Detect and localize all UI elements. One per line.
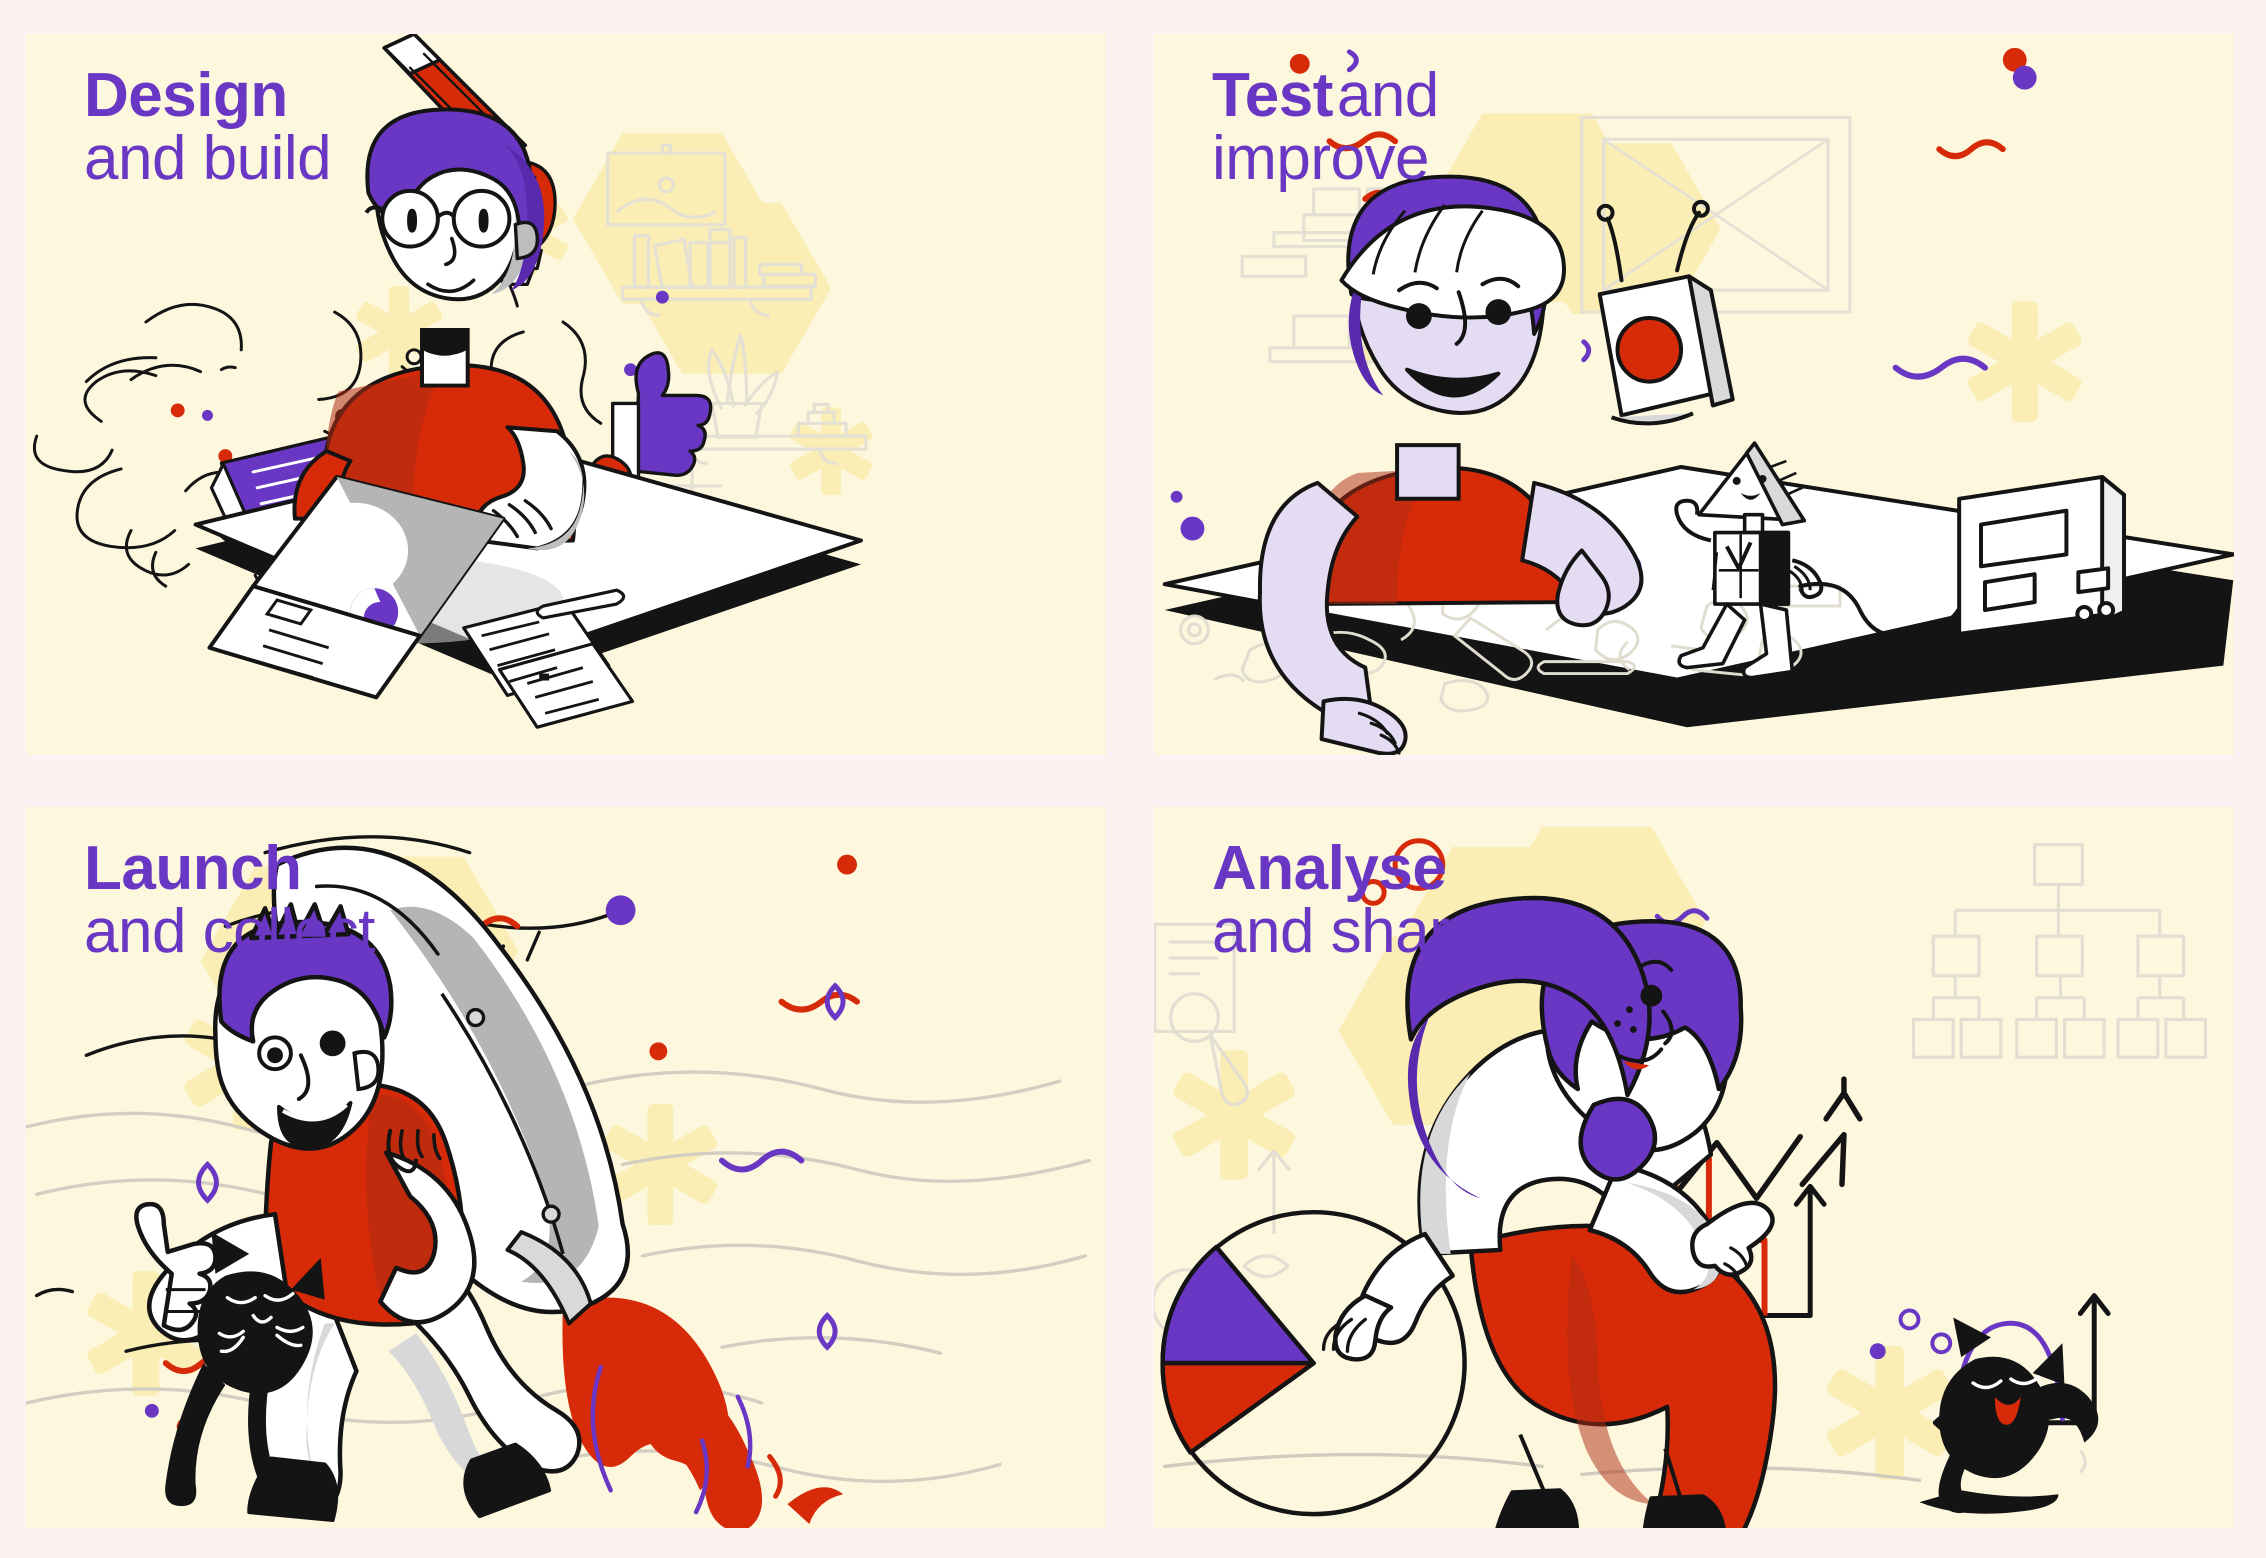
black-cat — [1919, 1317, 2098, 1513]
illustration-test-and-improve — [1154, 34, 2234, 755]
panel-test-and-improve[interactable]: Test and improve — [1154, 34, 2234, 755]
panel-analyse-and-share[interactable]: Analyse and share — [1154, 807, 2234, 1528]
panel-grid: Design and build — [0, 0, 2266, 1558]
illustration-launch-and-collect — [26, 807, 1106, 1528]
panel-launch-and-collect[interactable]: Launch and collect — [26, 807, 1106, 1528]
illustration-design-and-build — [26, 34, 1106, 755]
illustration-analyse-and-share — [1154, 807, 2234, 1528]
power-supply-box — [1959, 477, 2124, 634]
panel-design-and-build[interactable]: Design and build — [26, 34, 1106, 755]
ground-lines — [1165, 1455, 1920, 1481]
flame — [562, 1297, 843, 1528]
